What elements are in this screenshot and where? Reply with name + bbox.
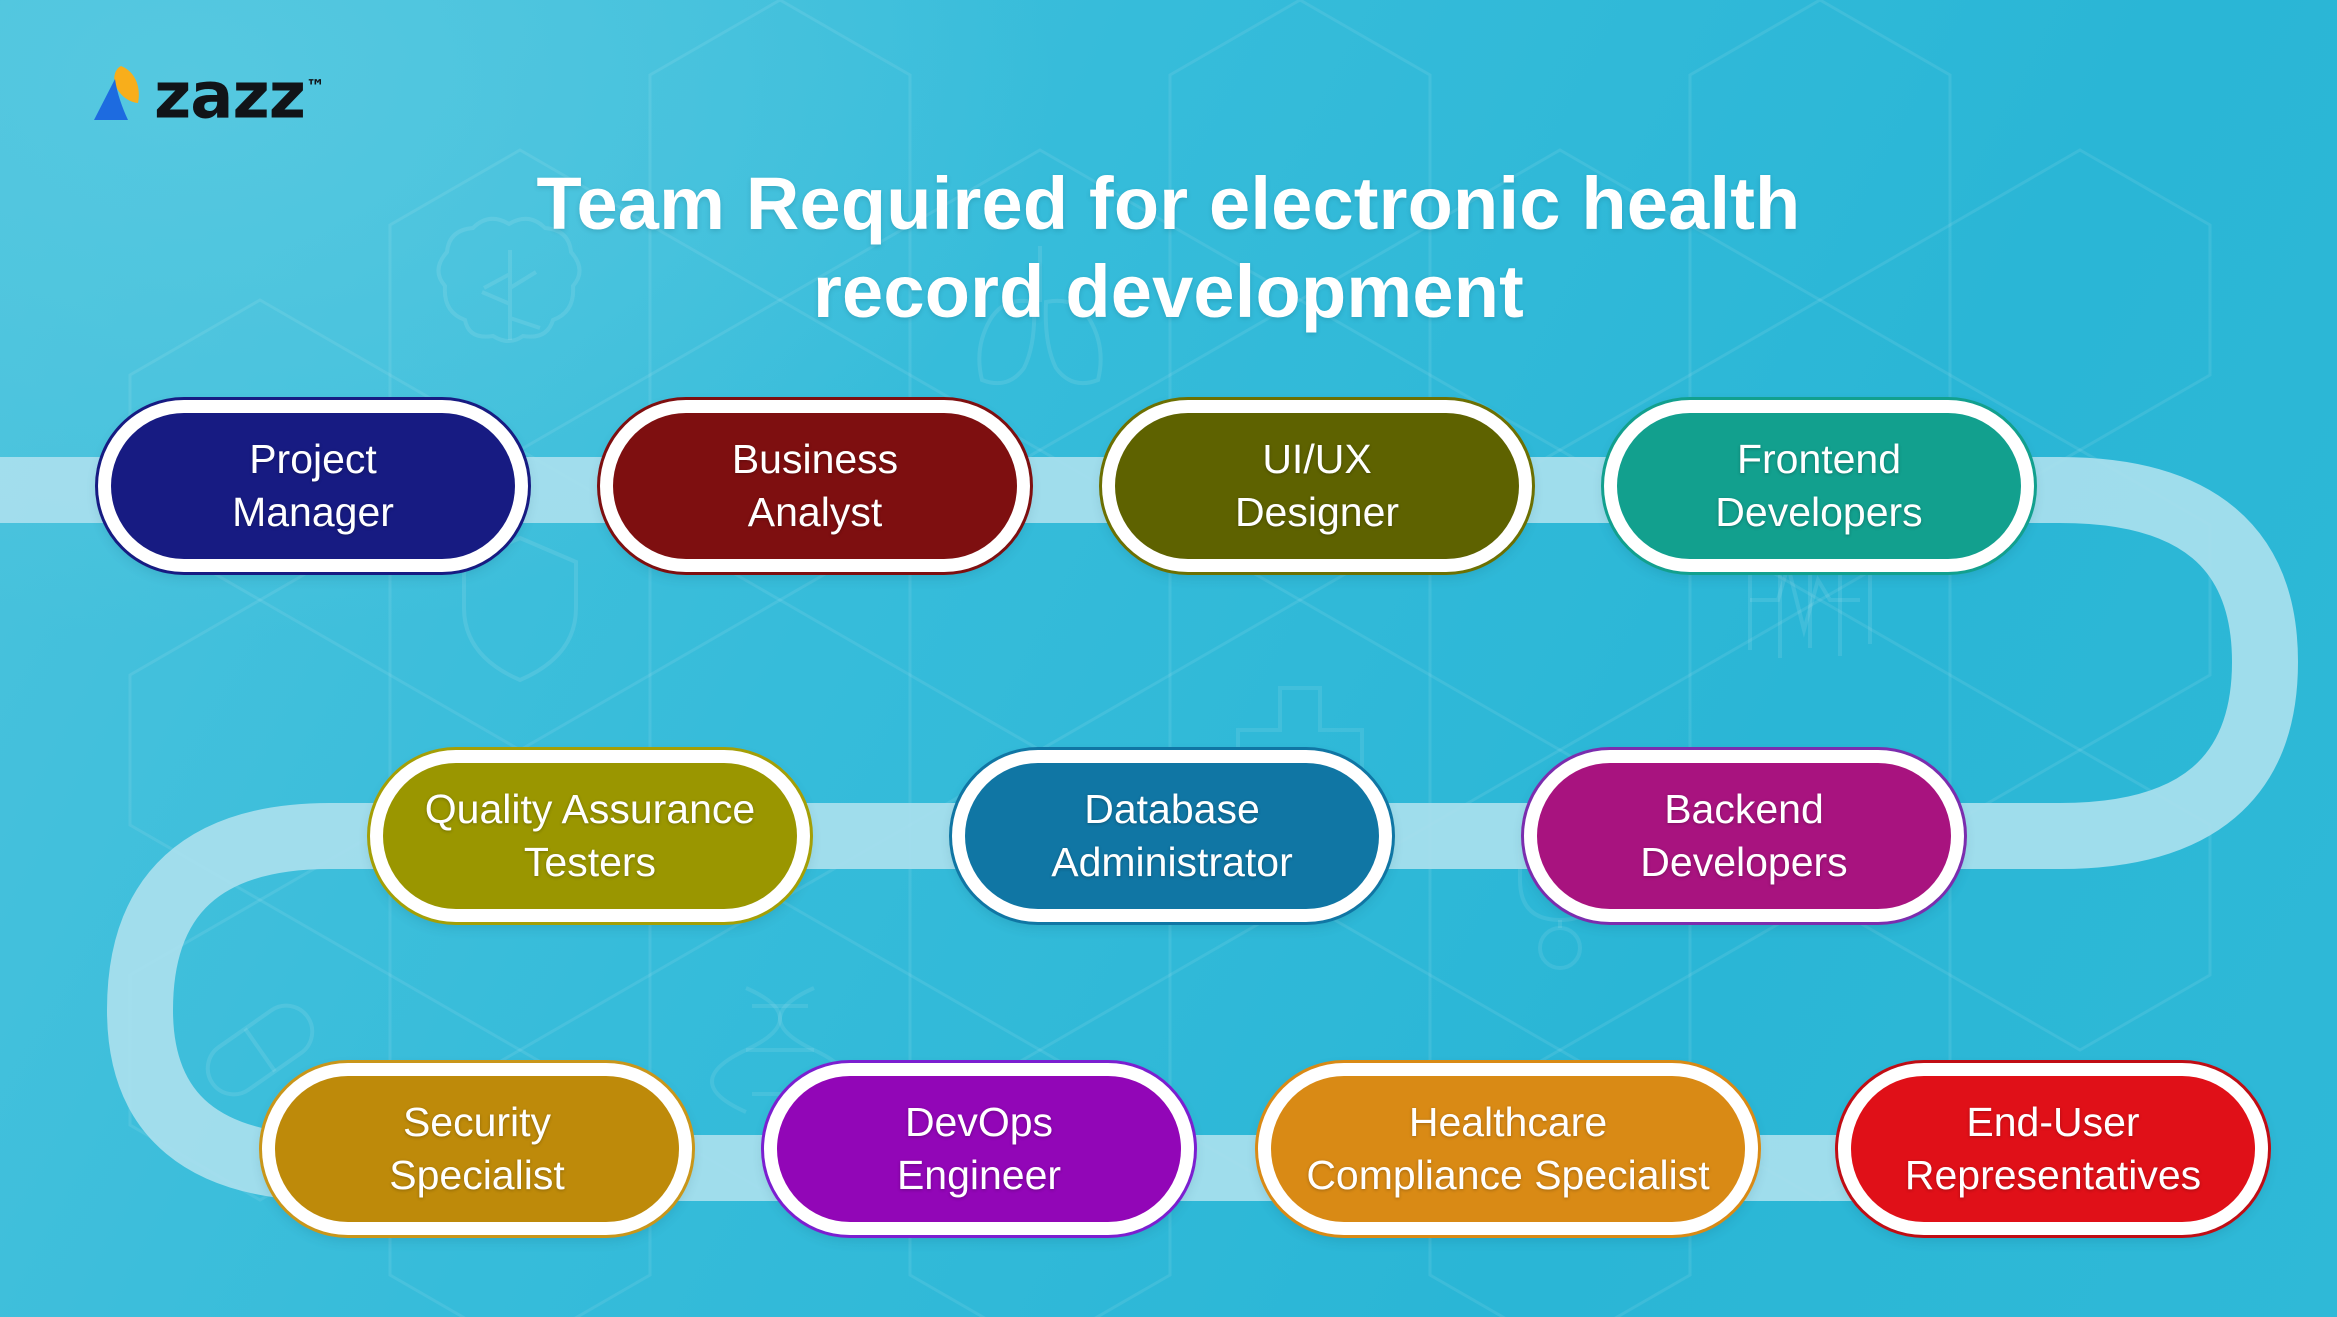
role-label-line1: Project (232, 433, 394, 486)
brand-name: zazz (154, 59, 305, 133)
page-title-line2: record development (360, 248, 1977, 336)
role-node-fill: BusinessAnalyst (613, 413, 1017, 559)
role-node-security-specialist[interactable]: SecuritySpecialist (262, 1063, 692, 1235)
role-label: UI/UXDesigner (1235, 433, 1399, 539)
role-label-line2: Engineer (897, 1149, 1061, 1202)
page-title-line1: Team Required for electronic health (537, 162, 1801, 245)
brand-wordmark: zazz™ (154, 60, 323, 125)
role-label-line1: Database (1051, 783, 1293, 836)
role-label-line1: UI/UX (1235, 433, 1399, 486)
trademark-symbol: ™ (306, 76, 324, 98)
role-label-line2: Designer (1235, 486, 1399, 539)
role-node-fill: DevOpsEngineer (777, 1076, 1181, 1222)
role-label-line2: Developers (1715, 486, 1922, 539)
role-label-line1: DevOps (897, 1096, 1061, 1149)
zazz-leaf-triangle-logo-icon (88, 62, 148, 124)
role-label-line2: Compliance Specialist (1306, 1149, 1709, 1202)
role-node-end-user-representatives[interactable]: End-UserRepresentatives (1838, 1063, 2268, 1235)
role-node-database-administrator[interactable]: DatabaseAdministrator (952, 750, 1392, 922)
role-label: FrontendDevelopers (1715, 433, 1922, 539)
role-node-fill: UI/UXDesigner (1115, 413, 1519, 559)
role-label-line2: Analyst (732, 486, 898, 539)
role-label-line2: Developers (1640, 836, 1847, 889)
role-node-fill: ProjectManager (111, 413, 515, 559)
role-label: BackendDevelopers (1640, 783, 1847, 889)
role-node-fill: SecuritySpecialist (275, 1076, 679, 1222)
role-label-line2: Manager (232, 486, 394, 539)
role-label-line1: Business (732, 433, 898, 486)
role-label-line1: Backend (1640, 783, 1847, 836)
role-node-fill: FrontendDevelopers (1617, 413, 2021, 559)
role-node-fill: BackendDevelopers (1537, 763, 1951, 909)
role-label-line1: End-User (1905, 1096, 2201, 1149)
role-label-line2: Specialist (389, 1149, 564, 1202)
role-node-fill: DatabaseAdministrator (965, 763, 1379, 909)
role-label: SecuritySpecialist (389, 1096, 564, 1202)
role-node-business-analyst[interactable]: BusinessAnalyst (600, 400, 1030, 572)
role-label-line2: Testers (425, 836, 755, 889)
role-node-fill: End-UserRepresentatives (1851, 1076, 2255, 1222)
role-node-project-manager[interactable]: ProjectManager (98, 400, 528, 572)
role-label: BusinessAnalyst (732, 433, 898, 539)
brand-logo[interactable]: zazz™ (88, 62, 323, 127)
role-label: DevOpsEngineer (897, 1096, 1061, 1202)
role-label: DatabaseAdministrator (1051, 783, 1293, 889)
role-label: ProjectManager (232, 433, 394, 539)
role-node-uiux-designer[interactable]: UI/UXDesigner (1102, 400, 1532, 572)
role-node-fill: HealthcareCompliance Specialist (1271, 1076, 1745, 1222)
role-node-devops-engineer[interactable]: DevOpsEngineer (764, 1063, 1194, 1235)
infographic-canvas: zazz™ Team Required for electronic healt… (0, 0, 2337, 1317)
role-label-line1: Security (389, 1096, 564, 1149)
role-label-line2: Representatives (1905, 1149, 2201, 1202)
role-node-qa-testers[interactable]: Quality AssuranceTesters (370, 750, 810, 922)
role-label: HealthcareCompliance Specialist (1306, 1096, 1709, 1202)
role-label-line1: Healthcare (1306, 1096, 1709, 1149)
role-label-line1: Frontend (1715, 433, 1922, 486)
role-label-line2: Administrator (1051, 836, 1293, 889)
role-node-healthcare-compliance-specialist[interactable]: HealthcareCompliance Specialist (1258, 1063, 1758, 1235)
page-title: Team Required for electronic health reco… (0, 160, 2337, 336)
role-label-line1: Quality Assurance (425, 783, 755, 836)
role-label: Quality AssuranceTesters (425, 783, 755, 889)
role-node-frontend-developers[interactable]: FrontendDevelopers (1604, 400, 2034, 572)
role-node-fill: Quality AssuranceTesters (383, 763, 797, 909)
role-label: End-UserRepresentatives (1905, 1096, 2201, 1202)
role-node-backend-developers[interactable]: BackendDevelopers (1524, 750, 1964, 922)
